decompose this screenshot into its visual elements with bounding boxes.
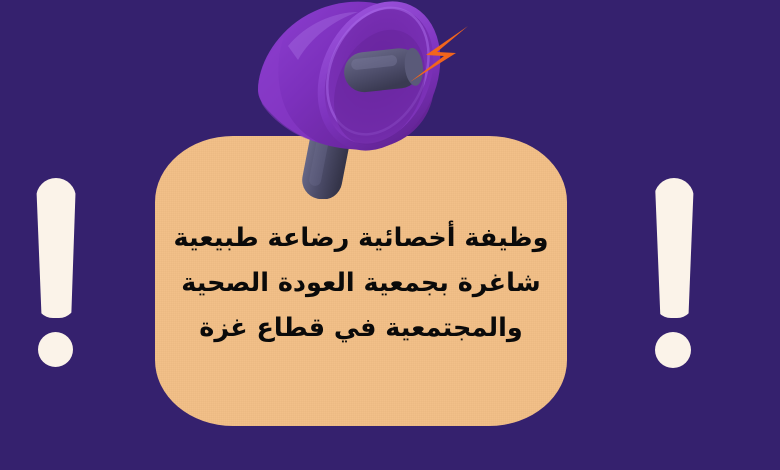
exclamation-mark-right-icon	[648, 170, 714, 370]
exclamation-mark-left-icon	[28, 170, 94, 370]
lightning-bolt-icon	[408, 22, 470, 86]
announcement-poster: وظيفة أخصائية رضاعة طبيعية شاغرة بجمعية …	[0, 0, 780, 470]
headline-line-2: شاغرة بجمعية العودة الصحية	[171, 261, 551, 306]
exclamation-dot	[655, 332, 691, 368]
headline-line-1: وظيفة أخصائية رضاعة طبيعية	[171, 216, 551, 261]
headline-line-3: والمجتمعية في قطاع غزة	[171, 306, 551, 351]
exclamation-stem	[654, 178, 694, 318]
exclamation-stem	[36, 178, 76, 318]
exclamation-dot	[38, 332, 73, 367]
headline-text: وظيفة أخصائية رضاعة طبيعية شاغرة بجمعية …	[155, 216, 567, 351]
